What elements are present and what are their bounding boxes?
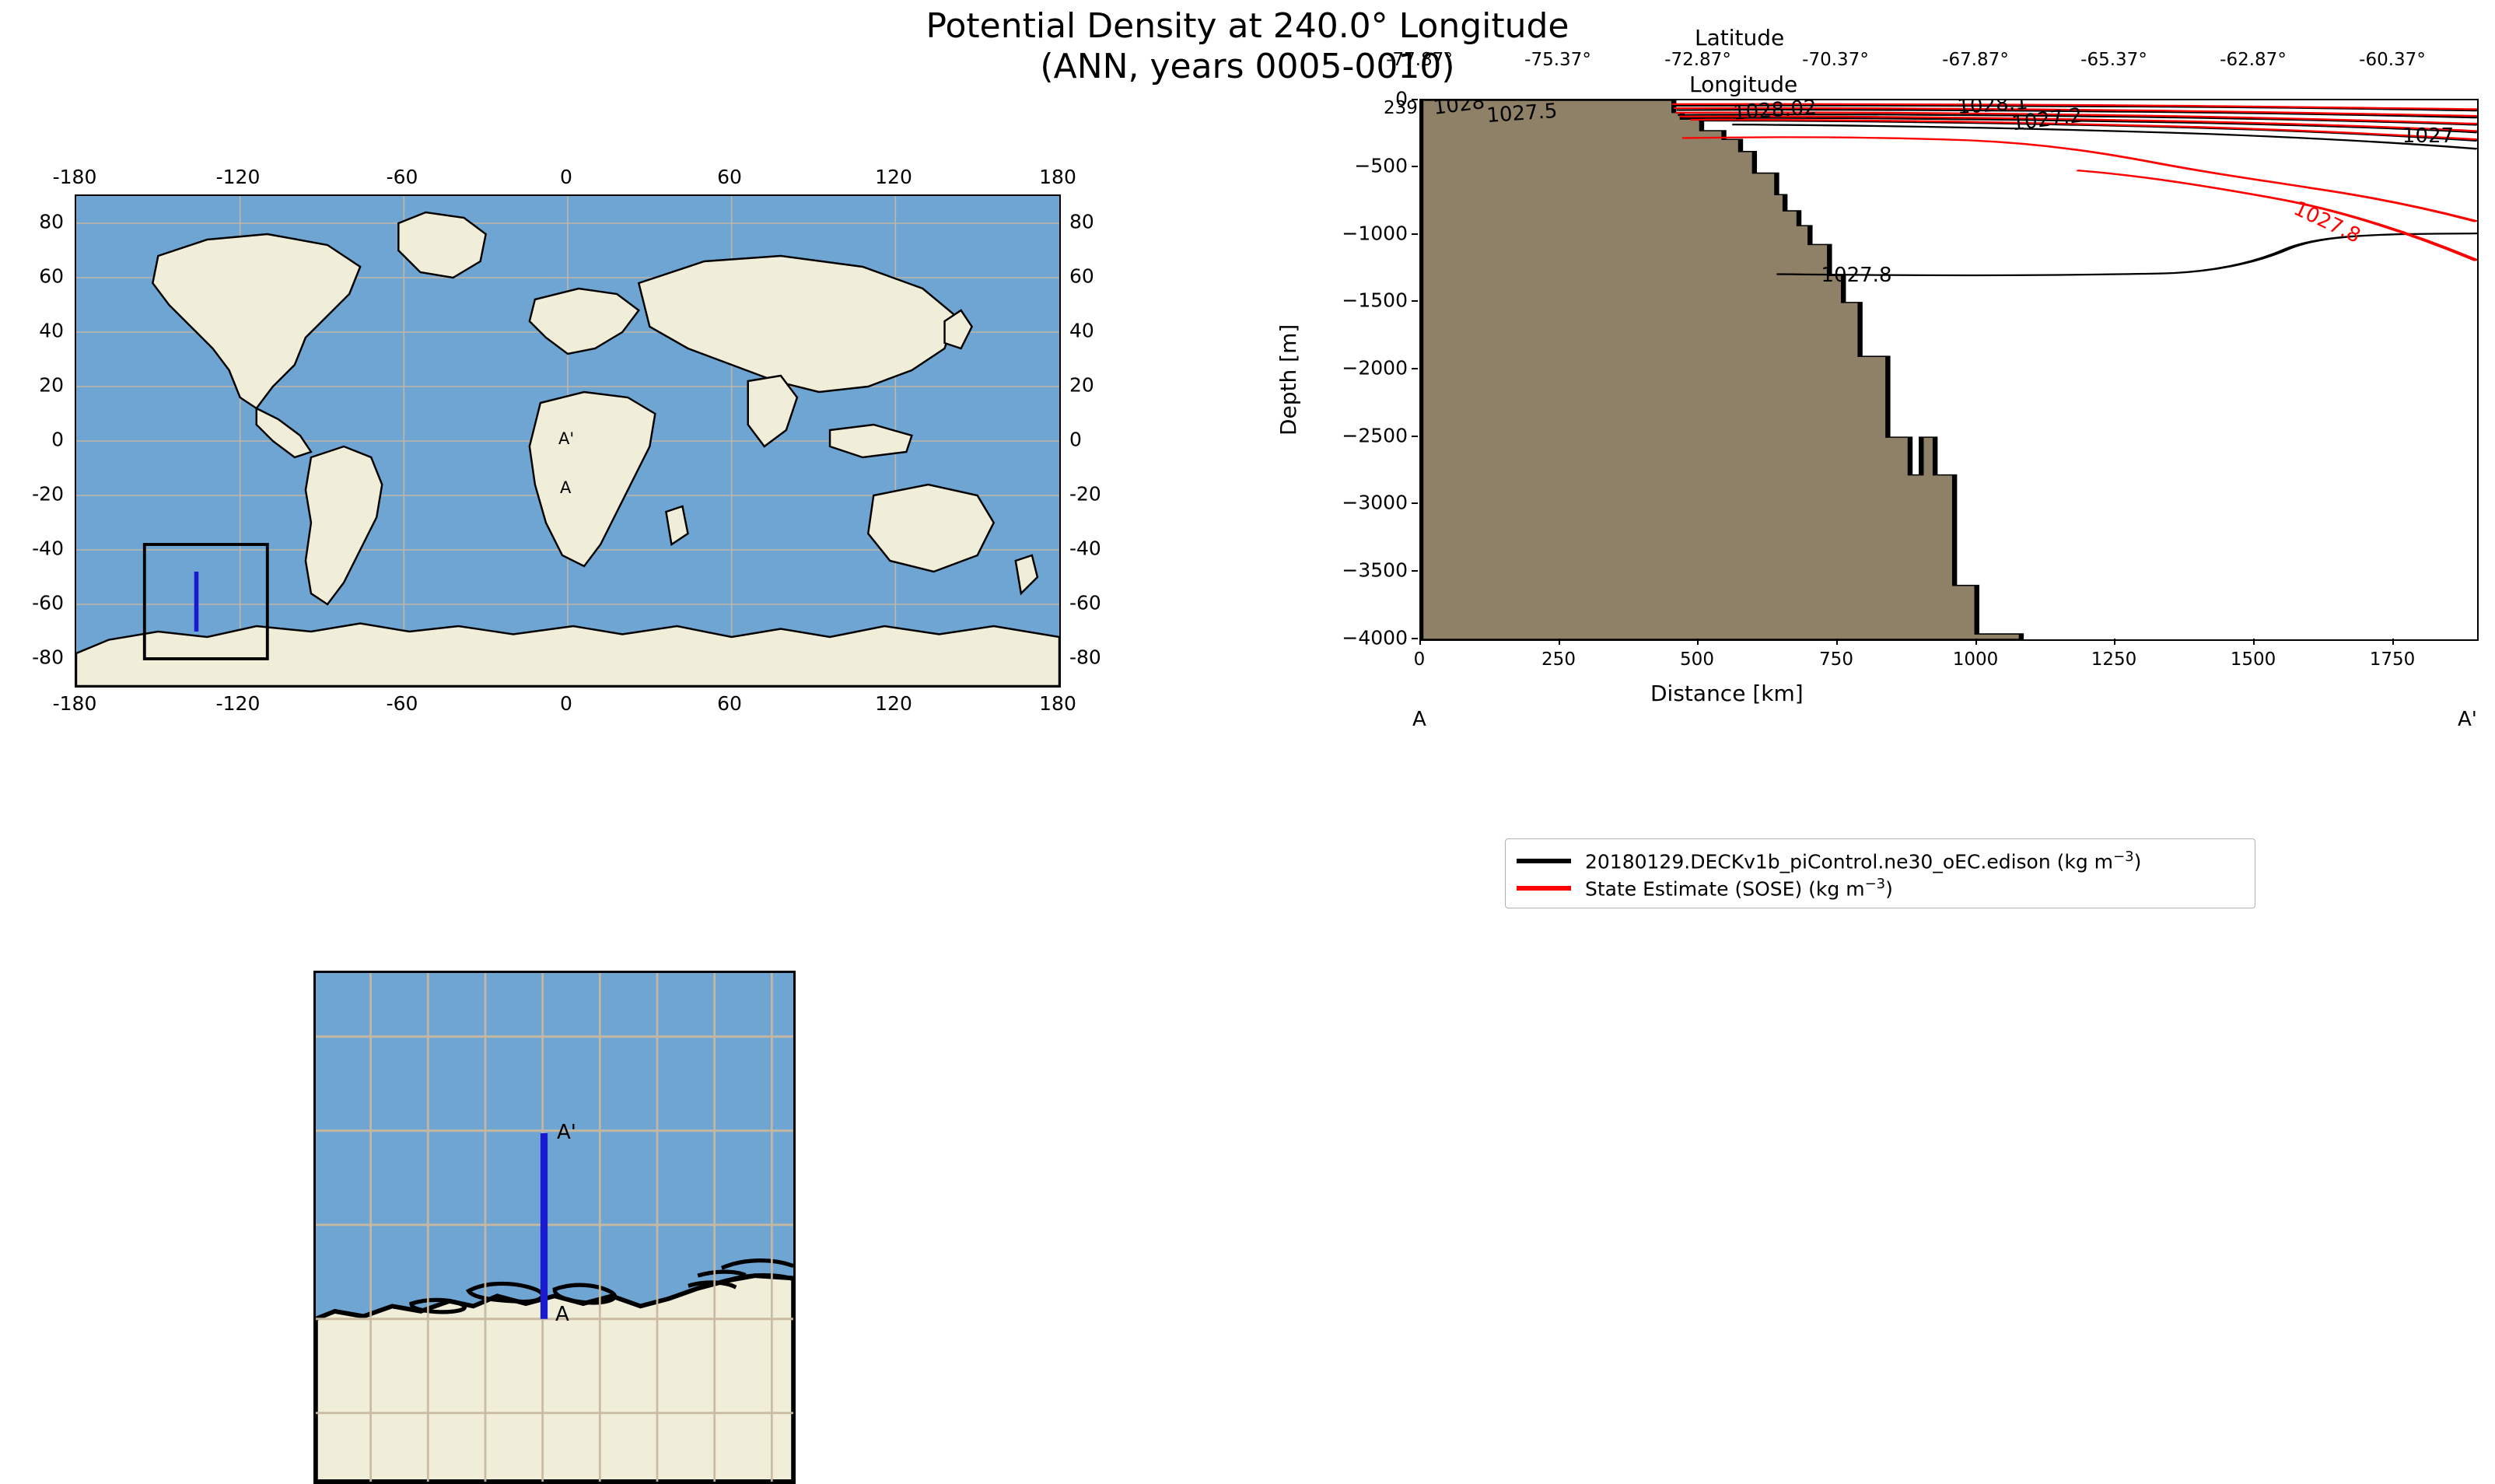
inset-label-a: A <box>555 1303 569 1326</box>
sose-contour-1027-6 <box>2077 170 2477 261</box>
depth-tick-0: 0 <box>1307 88 1408 110</box>
wm-ytick-l-2: 40 <box>16 320 64 342</box>
lat-tick-1: -75.37° <box>1524 50 1591 70</box>
cross-section-plot[interactable]: 1028 1027.5 1028.02 1028.1 1027.2 1027 1… <box>1419 99 2479 641</box>
legend-label-sose: State Estimate (SOSE) (kg m−3) <box>1585 876 1893 900</box>
dist-tick-7: 1750 <box>2370 649 2416 670</box>
wm-xtick-bot-6: 180 <box>1039 692 1076 715</box>
wm-xtick-top-4: 60 <box>717 166 742 188</box>
world-map[interactable]: A' A <box>75 194 1061 688</box>
wm-ytick-l-7: -60 <box>16 592 64 614</box>
world-map-label-aprime: A' <box>558 429 574 448</box>
contour-label-1027-5: 1027.5 <box>1486 100 1559 128</box>
wm-ytick-l-6: -40 <box>16 537 64 560</box>
lat-tick-3: -70.37° <box>1802 50 1869 70</box>
legend-sup-model: −3 <box>2113 849 2134 865</box>
lat-tick-5: -65.37° <box>2080 50 2147 70</box>
depth-tick-4: −2000 <box>1307 357 1408 380</box>
wm-xtick-bot-0: -180 <box>53 692 97 715</box>
wm-ytick-r-6: -40 <box>1069 537 1101 560</box>
wm-xtick-top-2: -60 <box>387 166 418 188</box>
depth-tick-6: −3000 <box>1307 492 1408 514</box>
dist-tick-6: 1500 <box>2231 649 2276 670</box>
wm-xtick-top-1: -120 <box>216 166 261 188</box>
wm-ytick-r-0: 80 <box>1069 211 1094 233</box>
wm-ytick-r-4: 0 <box>1069 429 1082 451</box>
latitude-axis-title: Latitude <box>1695 25 1784 51</box>
dist-tick-3: 750 <box>1819 649 1853 670</box>
depth-tick-8: −4000 <box>1307 627 1408 649</box>
inset-map-svg <box>316 973 793 1482</box>
depth-tick-5: −2500 <box>1307 425 1408 447</box>
wm-ytick-l-1: 60 <box>16 265 64 288</box>
wm-xtick-bot-2: -60 <box>387 692 418 715</box>
longitude-axis-title: Longitude <box>1689 72 1797 97</box>
lat-tick-2: -72.87° <box>1664 50 1731 70</box>
legend-sup-sose: −3 <box>1865 876 1886 892</box>
wm-xtick-top-6: 180 <box>1039 166 1076 188</box>
wm-ytick-l-0: 80 <box>16 211 64 233</box>
inset-label-aprime: A' <box>557 1121 576 1144</box>
cross-section-panel: Latitude -77.87° -75.37° -72.87° -70.37°… <box>1167 23 2495 801</box>
wm-xtick-bot-1: -120 <box>216 692 261 715</box>
dist-tick-5: 1250 <box>2091 649 2137 670</box>
depth-tick-1: −500 <box>1307 155 1408 177</box>
contour-label-1027: 1027 <box>2402 124 2454 148</box>
sose-contour-1027-8 <box>1682 137 2477 222</box>
legend-label-model: 20180129.DECKv1b_piControl.ne30_oEC.edis… <box>1585 849 2141 873</box>
legend-line-icon-model <box>1517 859 1571 863</box>
transect-end-label: A' <box>2458 708 2477 731</box>
legend-entry-sose[interactable]: State Estimate (SOSE) (kg m−3) <box>1517 874 2244 901</box>
wm-ytick-r-2: 40 <box>1069 320 1094 342</box>
wm-xtick-bot-4: 60 <box>717 692 742 715</box>
wm-ytick-r-5: -20 <box>1069 483 1101 506</box>
transect-start-label: A <box>1412 708 1426 731</box>
cross-section-svg <box>1421 100 2477 639</box>
lat-tick-0: -77.87° <box>1386 50 1453 70</box>
inset-landmass <box>316 1276 793 1482</box>
distance-axis-title: Distance [km] <box>1650 681 1804 706</box>
bathymetry-fill <box>1421 100 2021 639</box>
world-map-panel: A' A -180 -120 -60 0 60 120 180 -180 -12… <box>0 152 1128 727</box>
wm-ytick-r-8: -80 <box>1069 646 1101 669</box>
wm-ytick-r-1: 60 <box>1069 265 1094 288</box>
legend[interactable]: 20180129.DECKv1b_piControl.ne30_oEC.edis… <box>1505 838 2255 908</box>
contour-label-1027-8-model: 1027.8 <box>1821 264 1892 287</box>
lat-tick-7: -60.37° <box>2359 50 2426 70</box>
legend-entry-model[interactable]: 20180129.DECKv1b_piControl.ne30_oEC.edis… <box>1517 847 2244 874</box>
lat-tick-4: -67.87° <box>1942 50 2009 70</box>
dist-tick-4: 1000 <box>1953 649 1999 670</box>
wm-ytick-l-8: -80 <box>16 646 64 669</box>
dist-tick-1: 250 <box>1541 649 1576 670</box>
inset-map[interactable]: A' A <box>313 971 796 1484</box>
lat-tick-6: -62.87° <box>2220 50 2287 70</box>
wm-ytick-l-4: 0 <box>16 429 64 451</box>
wm-xtick-bot-5: 120 <box>875 692 912 715</box>
wm-xtick-top-5: 120 <box>875 166 912 188</box>
wm-ytick-r-7: -60 <box>1069 592 1101 614</box>
wm-xtick-top-3: 0 <box>560 166 572 188</box>
dist-tick-0: 0 <box>1414 649 1426 670</box>
dist-tick-2: 500 <box>1680 649 1714 670</box>
wm-xtick-bot-3: 0 <box>560 692 572 715</box>
world-map-label-a: A <box>560 478 571 497</box>
depth-tick-3: −1500 <box>1307 289 1408 312</box>
wm-xtick-top-0: -180 <box>53 166 97 188</box>
wm-ytick-r-3: 20 <box>1069 374 1094 397</box>
wm-ytick-l-5: -20 <box>16 483 64 506</box>
depth-tick-7: −3500 <box>1307 559 1408 582</box>
inset-map-panel: A' A <box>313 971 796 1484</box>
depth-axis-title: Depth [m] <box>1275 324 1301 436</box>
wm-ytick-l-3: 20 <box>16 374 64 397</box>
depth-tick-2: −1000 <box>1307 222 1408 245</box>
legend-line-icon-sose <box>1517 886 1571 891</box>
